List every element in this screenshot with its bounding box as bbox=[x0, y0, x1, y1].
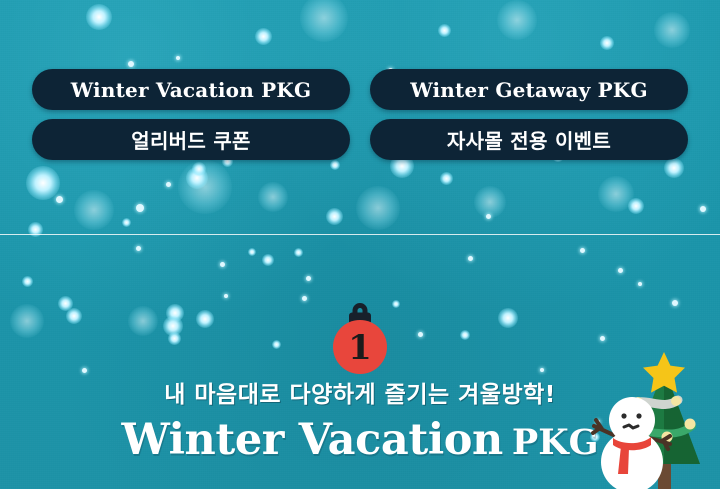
hero-title-main: Winter Vacation bbox=[121, 415, 502, 465]
nav-button-label: Winter Vacation PKG bbox=[71, 78, 311, 102]
nav-button-label: 자사몰 전용 이벤트 bbox=[447, 125, 611, 154]
section-divider bbox=[0, 234, 720, 235]
ornament-number: 1 bbox=[348, 328, 372, 368]
nav-button-winter-vacation-pkg[interactable]: Winter Vacation PKG bbox=[32, 69, 350, 110]
nav-button-label: Winter Getaway PKG bbox=[410, 78, 648, 102]
winter-mascots-illustration bbox=[588, 352, 720, 489]
nav-button-own-mall-exclusive-event[interactable]: 자사몰 전용 이벤트 bbox=[370, 119, 688, 160]
nav-button-label: 얼리버드 쿠폰 bbox=[131, 125, 250, 154]
promo-banner: Winter Vacation PKG Winter Getaway PKG 얼… bbox=[0, 0, 720, 489]
nav-button-early-bird-coupon[interactable]: 얼리버드 쿠폰 bbox=[32, 119, 350, 160]
christmas-ornament-icon: 1 bbox=[333, 300, 387, 374]
hero-title-suffix: PKG bbox=[512, 422, 599, 463]
nav-button-winter-getaway-pkg[interactable]: Winter Getaway PKG bbox=[370, 69, 688, 110]
